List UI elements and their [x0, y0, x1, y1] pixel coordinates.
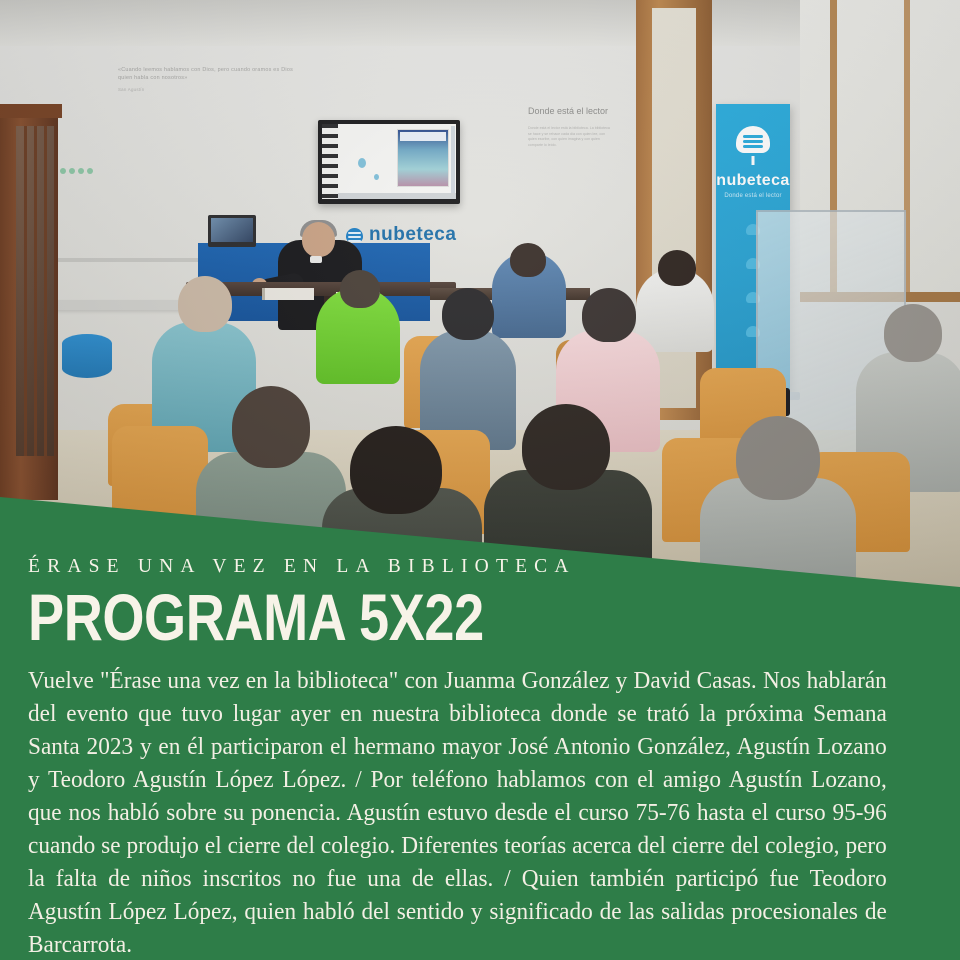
- slide-thumbnail-strip: [322, 124, 338, 199]
- wall-panel-title: Donde está el lector: [528, 106, 612, 117]
- caption-body: Vuelve "Érase una vez en la biblioteca" …: [28, 664, 887, 960]
- cloud-icon-stem: [752, 156, 755, 165]
- wall-hooks: [60, 168, 96, 175]
- wall-hook: [87, 168, 93, 174]
- book-on-table: [262, 288, 314, 300]
- tv-screen: [322, 124, 456, 199]
- caption-eyebrow: ÉRASE UNA VEZ EN LA BIBLIOTECA: [28, 556, 934, 578]
- cabinet-mullion: [34, 126, 37, 456]
- poster: «Cuando leemos hablamos con Dios, pero c…: [0, 0, 960, 960]
- attendee-head: [350, 426, 442, 514]
- attendee-head: [510, 243, 546, 277]
- wall-panel-body: Donde está el lector está la biblioteca.…: [528, 126, 612, 148]
- laptop-screen: [211, 218, 253, 242]
- attendee-head: [736, 416, 820, 500]
- slide-graphic-dot: [374, 174, 379, 180]
- scrollbar[interactable]: [451, 126, 455, 194]
- presenter-clerical-collar: [310, 256, 322, 263]
- presenter-head: [302, 222, 335, 257]
- cloud-icon: [346, 228, 363, 242]
- presentation-slide: [397, 129, 449, 187]
- tv-taskbar: [338, 193, 456, 199]
- attendee-head: [178, 276, 232, 332]
- banner-tagline: Donde está el lector: [716, 193, 790, 199]
- attendee-head: [442, 288, 494, 340]
- slide-header: [400, 132, 446, 141]
- attendee-head: [658, 250, 696, 286]
- attendee-head: [582, 288, 636, 342]
- page-title: PROGRAMA 5X22: [28, 584, 771, 650]
- cabinet-mullion: [24, 126, 27, 456]
- cabinet-mullion: [44, 126, 47, 456]
- attendee-head: [522, 404, 610, 490]
- wall-quote-text: «Cuando leemos hablamos con Dios, pero c…: [118, 66, 298, 82]
- laptop: [208, 215, 256, 247]
- wall-hook: [78, 168, 84, 174]
- wall-quote: «Cuando leemos hablamos con Dios, pero c…: [118, 66, 298, 108]
- attendee-head: [884, 304, 942, 362]
- cloud-icon: [736, 126, 770, 153]
- wall-quote-source: San Agustín: [118, 86, 298, 94]
- wall-hook: [69, 168, 75, 174]
- slide-graphic-dot: [358, 158, 366, 168]
- attendee-head: [340, 270, 380, 308]
- event-photo: «Cuando leemos hablamos con Dios, pero c…: [0, 0, 960, 600]
- banner-brand-label: nubeteca: [716, 172, 790, 190]
- attendee-head: [232, 386, 310, 468]
- television: [318, 120, 460, 204]
- blue-ottoman: [62, 334, 112, 378]
- cabinet-crown-moulding: [0, 104, 62, 118]
- wall-hook: [60, 168, 66, 174]
- caption-text-block: ÉRASE UNA VEZ EN LA BIBLIOTECA PROGRAMA …: [28, 556, 934, 960]
